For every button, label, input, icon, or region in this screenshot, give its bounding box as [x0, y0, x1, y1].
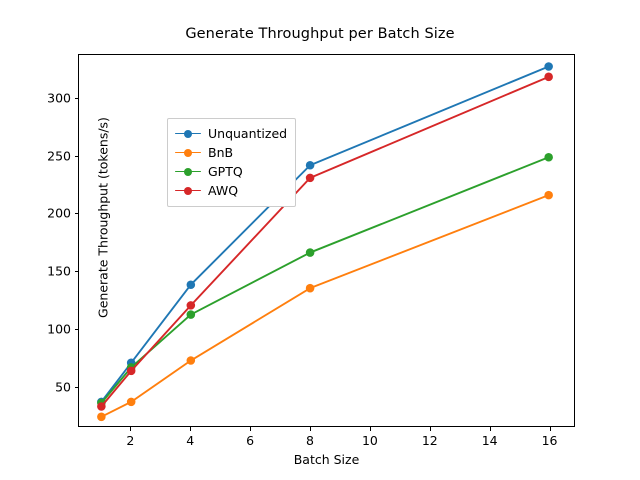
y-axis-label: Generate Throughput (tokens/s): [96, 28, 111, 408]
x-tick-label: 10: [350, 433, 390, 448]
data-point-marker: [544, 62, 553, 71]
data-point-marker: [187, 301, 196, 310]
plot-area: Generate Throughput (tokens/s) Unquantiz…: [78, 54, 575, 427]
x-tick-mark: [310, 427, 311, 431]
series-line-bnb: [101, 195, 548, 417]
x-tick-mark: [430, 427, 431, 431]
chart-figure: Generate Throughput per Batch Size 50100…: [0, 0, 640, 480]
legend-swatch-icon: [175, 184, 201, 198]
x-tick-label: 14: [470, 433, 510, 448]
x-axis-label: Batch Size: [78, 452, 575, 467]
y-tick-label: 300: [11, 90, 71, 105]
legend-item-gptq[interactable]: GPTQ: [175, 162, 287, 181]
y-tick-label: 50: [11, 379, 71, 394]
data-point-marker: [544, 73, 553, 82]
data-point-marker: [306, 248, 315, 257]
x-tick-mark: [550, 427, 551, 431]
y-tick-label: 100: [11, 321, 71, 336]
legend-swatch-icon: [175, 146, 201, 160]
x-tick-label: 4: [170, 433, 210, 448]
x-tick-label: 16: [530, 433, 570, 448]
x-tick-mark: [190, 427, 191, 431]
data-point-marker: [544, 191, 553, 200]
data-point-marker: [187, 280, 196, 289]
data-point-marker: [127, 367, 136, 376]
chart-legend: UnquantizedBnBGPTQAWQ: [167, 118, 296, 207]
x-tick-label: 12: [410, 433, 450, 448]
data-point-marker: [306, 284, 315, 293]
data-point-marker: [306, 161, 315, 170]
x-tick-label: 8: [290, 433, 330, 448]
x-tick-mark: [250, 427, 251, 431]
legend-label: AWQ: [208, 184, 238, 198]
y-tick-label: 200: [11, 206, 71, 221]
x-tick-mark: [370, 427, 371, 431]
legend-item-awq[interactable]: AWQ: [175, 181, 287, 200]
legend-swatch-icon: [175, 127, 201, 141]
legend-item-bnb[interactable]: BnB: [175, 143, 287, 162]
legend-swatch-icon: [175, 165, 201, 179]
x-tick-mark: [130, 427, 131, 431]
data-point-marker: [187, 310, 196, 319]
series-line-unquantized: [101, 66, 548, 401]
x-tick-label: 6: [230, 433, 270, 448]
data-point-marker: [544, 153, 553, 162]
data-point-marker: [187, 356, 196, 365]
y-tick-label: 250: [11, 148, 71, 163]
legend-item-unquantized[interactable]: Unquantized: [175, 124, 287, 143]
data-point-marker: [97, 413, 106, 422]
data-point-marker: [127, 398, 136, 407]
legend-label: GPTQ: [208, 165, 243, 179]
y-tick-label: 150: [11, 264, 71, 279]
data-point-marker: [306, 174, 315, 183]
legend-label: BnB: [208, 146, 233, 160]
x-tick-mark: [490, 427, 491, 431]
legend-label: Unquantized: [208, 127, 287, 141]
x-tick-label: 2: [110, 433, 150, 448]
plot-lines: [79, 55, 574, 426]
